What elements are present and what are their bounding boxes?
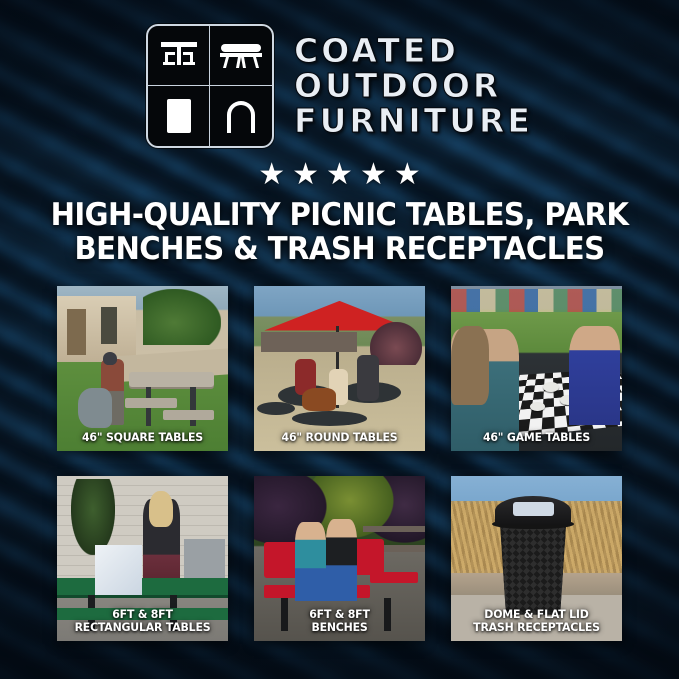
tile-caption: 6FT & 8FT RECTANGULAR TABLES xyxy=(61,608,223,634)
bench-icon xyxy=(210,26,272,86)
trash-receptacle-icon xyxy=(148,86,210,146)
tile-caption: 6FT & 8FT BENCHES xyxy=(258,608,420,634)
bike-rack-arch-icon xyxy=(210,86,272,146)
game-table-photo xyxy=(451,286,622,451)
picnic-table-icon xyxy=(148,26,210,86)
tile-caption: 46" ROUND TABLES xyxy=(258,431,420,444)
star-icon: ★ xyxy=(360,160,387,190)
product-tile-round-tables[interactable]: 46" ROUND TABLES xyxy=(254,286,425,451)
product-tile-trash-receptacles[interactable]: DOME & FLAT LID TRASH RECEPTACLES xyxy=(451,476,622,641)
star-icon: ★ xyxy=(326,160,353,190)
brand-line-3: FURNITURE xyxy=(294,104,533,138)
brand-wordmark: COATED OUTDOOR FURNITURE xyxy=(294,34,533,138)
star-icon: ★ xyxy=(292,160,319,190)
product-tile-benches[interactable]: 6FT & 8FT BENCHES xyxy=(254,476,425,641)
product-tile-game-tables[interactable]: 46" GAME TABLES xyxy=(451,286,622,451)
tile-caption-line-2: RECTANGULAR TABLES xyxy=(75,620,211,634)
product-tile-grid: 46" SQUARE TABLES 46" ROUND TABLES xyxy=(57,286,623,641)
product-tile-square-tables[interactable]: 46" SQUARE TABLES xyxy=(57,286,228,451)
tile-caption-line-2: BENCHES xyxy=(311,620,367,634)
tile-caption: DOME & FLAT LID TRASH RECEPTACLES xyxy=(455,608,617,634)
square-table-photo xyxy=(57,286,228,451)
star-icon: ★ xyxy=(258,160,285,190)
rating-stars: ★ ★ ★ ★ ★ xyxy=(0,160,679,190)
brand-logo: COATED OUTDOOR FURNITURE xyxy=(0,24,679,148)
tile-caption: 46" SQUARE TABLES xyxy=(61,431,223,444)
product-tile-rectangular-tables[interactable]: 6FT & 8FT RECTANGULAR TABLES xyxy=(57,476,228,641)
brand-line-1: COATED xyxy=(294,34,533,68)
promotional-poster: COATED OUTDOOR FURNITURE ★ ★ ★ ★ ★ HIGH-… xyxy=(0,0,679,679)
headline-text: HIGH-QUALITY PICNIC TABLES, PARK BENCHES… xyxy=(43,198,636,266)
star-icon: ★ xyxy=(394,160,421,190)
four-quadrant-furniture-icon xyxy=(146,24,274,148)
round-table-photo xyxy=(254,286,425,451)
tile-caption: 46" GAME TABLES xyxy=(455,431,617,444)
brand-line-2: OUTDOOR xyxy=(294,69,533,103)
tile-caption-line-2: TRASH RECEPTACLES xyxy=(473,620,600,634)
